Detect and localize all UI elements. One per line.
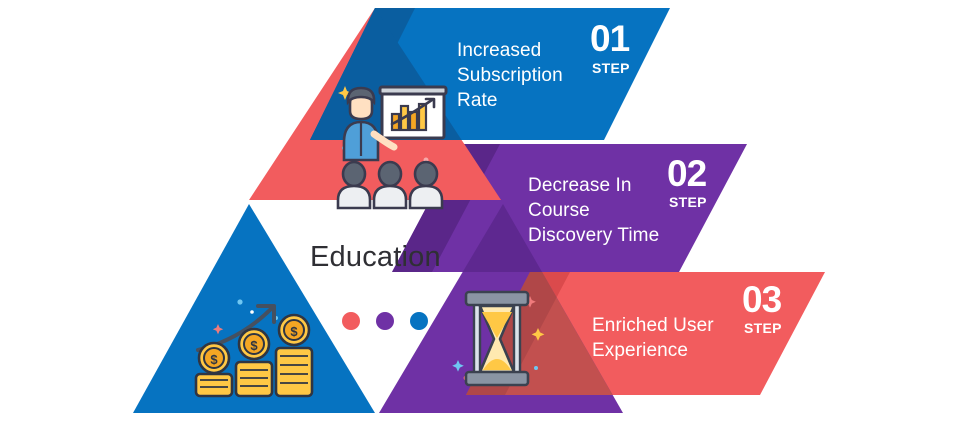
svg-text:$: $ (210, 352, 218, 367)
svg-text:$: $ (290, 324, 298, 339)
dot-red (342, 312, 360, 330)
step-1-number: 01 (590, 22, 629, 56)
step-3-label: Enriched User Experience (592, 313, 714, 363)
step-2-label: Decrease In Course Discovery Time (528, 173, 659, 248)
step-2-number: 02 (667, 157, 706, 191)
step-2-word: STEP (669, 194, 707, 210)
center-title: Education (310, 241, 441, 274)
dot-blue (410, 312, 428, 330)
svg-text:$: $ (250, 338, 258, 353)
step-1-word: STEP (592, 60, 630, 76)
step-1-label: Increased Subscription Rate (457, 38, 563, 113)
step-3-word: STEP (744, 320, 782, 336)
dot-purple (376, 312, 394, 330)
step-3-number: 03 (742, 283, 781, 317)
infographic-canvas: $ $ $ (0, 0, 959, 423)
